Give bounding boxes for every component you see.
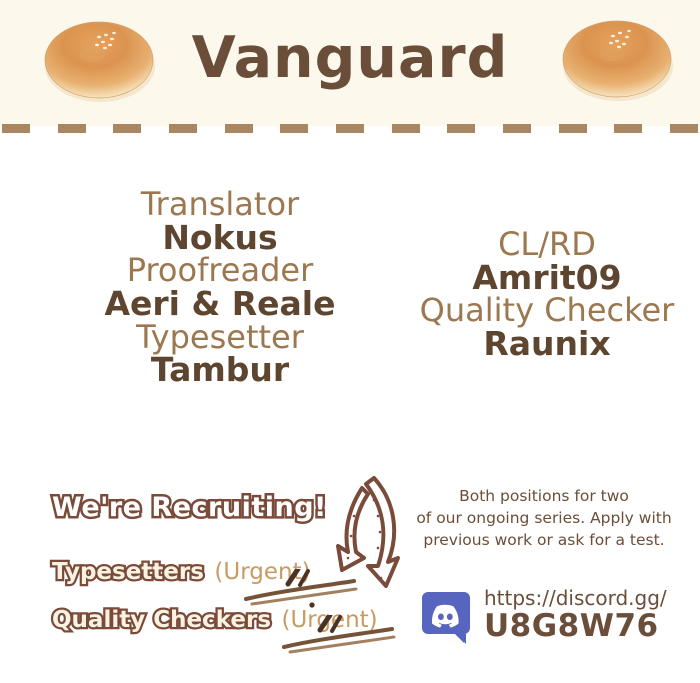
divider-dash (225, 124, 253, 133)
dashed-divider (0, 124, 700, 134)
credit-role-translator: Translator (60, 188, 380, 221)
credit-role-proofreader: Proofreader (60, 254, 380, 287)
recruiting-urgent-tag: (Urgent) (281, 607, 377, 633)
divider-dash (559, 124, 587, 133)
credit-role-clrd: CL/RD (398, 228, 696, 261)
recruiting-position-quality-checkers: Quality Checkers (Urgent) (52, 607, 352, 639)
discord-invite-block[interactable]: https://discord.gg/ U8G8W76 (422, 588, 690, 644)
info-text-block: Both positions for two of our ongoing se… (398, 485, 690, 551)
discord-invite-code[interactable]: U8G8W76 (484, 609, 667, 643)
credit-person-typesetter: Tambur (60, 353, 380, 387)
credit-role-typesetter: Typesetter (60, 321, 380, 354)
divider-dash (280, 124, 308, 133)
divider-dash (392, 124, 420, 133)
recruiting-position-typesetters: Typesetters (Urgent) (52, 559, 352, 591)
discord-text: https://discord.gg/ U8G8W76 (484, 588, 667, 643)
credit-person-proofreader: Aeri & Reale (60, 287, 380, 321)
divider-dash (503, 124, 531, 133)
recruiting-headline: We're Recruiting! (52, 492, 352, 523)
info-line: of our ongoing series. Apply with (398, 507, 690, 529)
recruiting-section: We're Recruiting! Typesetters (Urgent) Q… (52, 492, 352, 639)
divider-dash (169, 124, 197, 133)
recruiting-role-label: Quality Checkers (52, 607, 271, 633)
credit-person-qc: Raunix (398, 327, 696, 361)
info-line: previous work or ask for a test. (398, 529, 690, 551)
credit-person-translator: Nokus (60, 221, 380, 255)
recruiting-role-label: Typesetters (52, 559, 204, 585)
credit-person-clrd: Amrit09 (398, 261, 696, 295)
info-line: Both positions for two (398, 485, 690, 507)
divider-dash (2, 124, 30, 133)
credits-column-left: Translator Nokus Proofreader Aeri & Real… (60, 188, 380, 387)
credits-column-right: CL/RD Amrit09 Quality Checker Raunix (398, 228, 696, 361)
credit-role-qc: Quality Checker (398, 294, 696, 327)
divider-dash (670, 124, 698, 133)
divider-dash (336, 124, 364, 133)
divider-dash (447, 124, 475, 133)
discord-url[interactable]: https://discord.gg/ (484, 588, 667, 609)
discord-icon[interactable] (422, 592, 470, 644)
recruiting-urgent-tag: (Urgent) (214, 559, 310, 585)
divider-dash (614, 124, 642, 133)
divider-dash (58, 124, 86, 133)
page-title: Vanguard (0, 25, 700, 91)
divider-dash (113, 124, 141, 133)
credits-section: Translator Nokus Proofreader Aeri & Real… (0, 160, 700, 450)
